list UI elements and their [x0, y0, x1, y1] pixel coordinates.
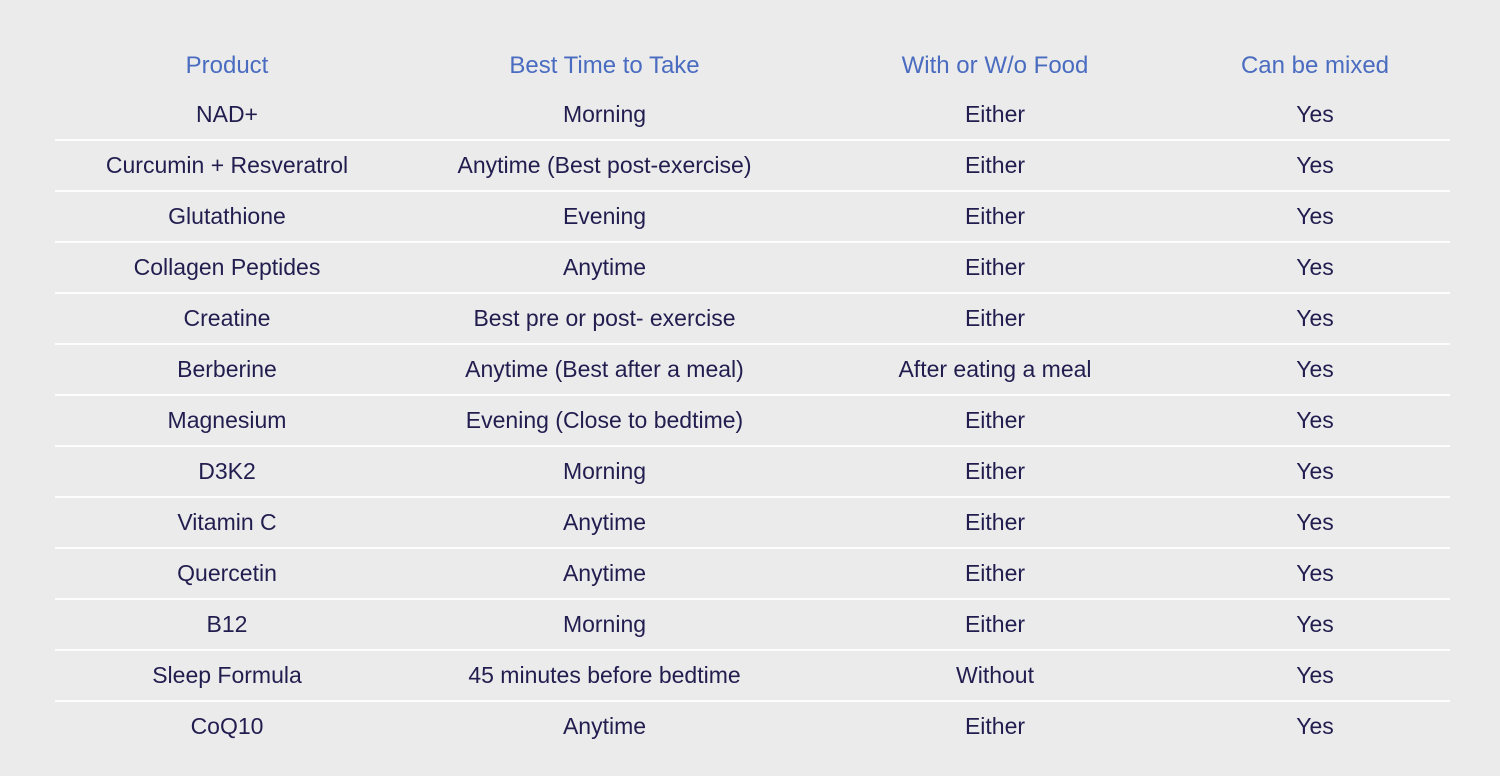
table-cell-mixed: Yes: [1180, 446, 1450, 497]
table-cell-best_time: Anytime: [399, 497, 810, 548]
column-header-product: Product: [55, 41, 399, 90]
table-row: B12MorningEitherYes: [55, 599, 1450, 650]
table-cell-product: Quercetin: [55, 548, 399, 599]
table-cell-best_time: 45 minutes before bedtime: [399, 650, 810, 701]
column-header-best-time: Best Time to Take: [399, 41, 810, 90]
table-cell-best_time: Anytime (Best post-exercise): [399, 140, 810, 191]
table-cell-mixed: Yes: [1180, 344, 1450, 395]
table-cell-food: Either: [810, 497, 1180, 548]
table-cell-food: Either: [810, 446, 1180, 497]
table-row: MagnesiumEvening (Close to bedtime)Eithe…: [55, 395, 1450, 446]
table-row: Collagen PeptidesAnytimeEitherYes: [55, 242, 1450, 293]
table-cell-mixed: Yes: [1180, 293, 1450, 344]
supplement-timing-table: Product Best Time to Take With or W/o Fo…: [55, 41, 1450, 751]
table-cell-product: Collagen Peptides: [55, 242, 399, 293]
table-row: QuercetinAnytimeEitherYes: [55, 548, 1450, 599]
table-row: NAD+MorningEitherYes: [55, 90, 1450, 140]
table-cell-food: After eating a meal: [810, 344, 1180, 395]
table-row: CoQ10AnytimeEitherYes: [55, 701, 1450, 751]
table-cell-best_time: Anytime: [399, 701, 810, 751]
table-cell-food: Without: [810, 650, 1180, 701]
table-cell-product: Curcumin + Resveratrol: [55, 140, 399, 191]
table-cell-mixed: Yes: [1180, 548, 1450, 599]
table-row: Sleep Formula45 minutes before bedtimeWi…: [55, 650, 1450, 701]
table-cell-best_time: Evening: [399, 191, 810, 242]
table-cell-best_time: Morning: [399, 90, 810, 140]
table-cell-mixed: Yes: [1180, 599, 1450, 650]
table-cell-product: Glutathione: [55, 191, 399, 242]
table-cell-mixed: Yes: [1180, 191, 1450, 242]
table-cell-best_time: Morning: [399, 446, 810, 497]
table-cell-mixed: Yes: [1180, 497, 1450, 548]
table-row: GlutathioneEveningEitherYes: [55, 191, 1450, 242]
table-cell-best_time: Anytime: [399, 242, 810, 293]
table-cell-best_time: Anytime: [399, 548, 810, 599]
table-cell-mixed: Yes: [1180, 701, 1450, 751]
table-cell-food: Either: [810, 191, 1180, 242]
column-header-mixed: Can be mixed: [1180, 41, 1450, 90]
table-cell-product: B12: [55, 599, 399, 650]
table-cell-best_time: Anytime (Best after a meal): [399, 344, 810, 395]
table-cell-product: Berberine: [55, 344, 399, 395]
table-cell-product: Creatine: [55, 293, 399, 344]
table-cell-food: Either: [810, 140, 1180, 191]
table-cell-product: D3K2: [55, 446, 399, 497]
table-row: Curcumin + ResveratrolAnytime (Best post…: [55, 140, 1450, 191]
column-header-food: With or W/o Food: [810, 41, 1180, 90]
table-cell-mixed: Yes: [1180, 650, 1450, 701]
table-row: Vitamin CAnytimeEitherYes: [55, 497, 1450, 548]
table-cell-best_time: Evening (Close to bedtime): [399, 395, 810, 446]
table-cell-mixed: Yes: [1180, 90, 1450, 140]
table-cell-food: Either: [810, 599, 1180, 650]
table-cell-food: Either: [810, 293, 1180, 344]
table-cell-mixed: Yes: [1180, 395, 1450, 446]
table-cell-product: NAD+: [55, 90, 399, 140]
supplement-timing-table-container: Product Best Time to Take With or W/o Fo…: [0, 0, 1500, 776]
table-cell-best_time: Morning: [399, 599, 810, 650]
table-cell-best_time: Best pre or post- exercise: [399, 293, 810, 344]
table-cell-product: Magnesium: [55, 395, 399, 446]
table-row: CreatineBest pre or post- exerciseEither…: [55, 293, 1450, 344]
table-body: NAD+MorningEitherYesCurcumin + Resveratr…: [55, 90, 1450, 751]
table-cell-product: CoQ10: [55, 701, 399, 751]
table-cell-food: Either: [810, 242, 1180, 293]
table-cell-mixed: Yes: [1180, 140, 1450, 191]
table-cell-mixed: Yes: [1180, 242, 1450, 293]
table-header-row: Product Best Time to Take With or W/o Fo…: [55, 41, 1450, 90]
table-cell-product: Vitamin C: [55, 497, 399, 548]
table-cell-food: Either: [810, 90, 1180, 140]
table-cell-food: Either: [810, 548, 1180, 599]
table-row: BerberineAnytime (Best after a meal)Afte…: [55, 344, 1450, 395]
table-header: Product Best Time to Take With or W/o Fo…: [55, 41, 1450, 90]
table-row: D3K2MorningEitherYes: [55, 446, 1450, 497]
table-cell-product: Sleep Formula: [55, 650, 399, 701]
table-cell-food: Either: [810, 701, 1180, 751]
table-cell-food: Either: [810, 395, 1180, 446]
